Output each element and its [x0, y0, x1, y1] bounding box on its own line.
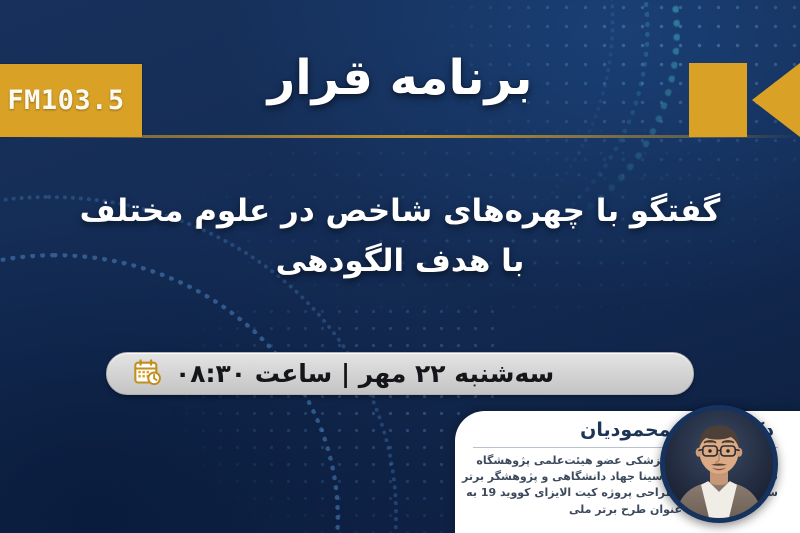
subtitle-line-2: با هدف الگودهی [40, 236, 760, 286]
header-chevron-decoration [689, 63, 800, 137]
dot-pattern-bottom-left [0, 303, 500, 533]
schedule-text: سه‌شنبه ۲۲ مهر | ساعت ۰۸:۳۰ [175, 359, 554, 388]
radio-program-poster: FM103.5 برنامه قرار گفتگو با چهره‌های شا… [0, 0, 800, 533]
schedule-badge: سه‌شنبه ۲۲ مهر | ساعت ۰۸:۳۰ [106, 352, 694, 395]
calendar-clock-icon [133, 358, 161, 390]
avatar [660, 405, 778, 523]
chevron-left-icon [752, 63, 800, 137]
subtitle-line-1: گفتگو با چهره‌های شاخص در علوم مختلف [80, 193, 721, 229]
program-subtitle: گفتگو با چهره‌های شاخص در علوم مختلف با … [40, 186, 760, 286]
speaker-photo [665, 410, 773, 518]
gold-block-decoration [689, 63, 747, 137]
page-title: برنامه قرار [0, 48, 800, 108]
